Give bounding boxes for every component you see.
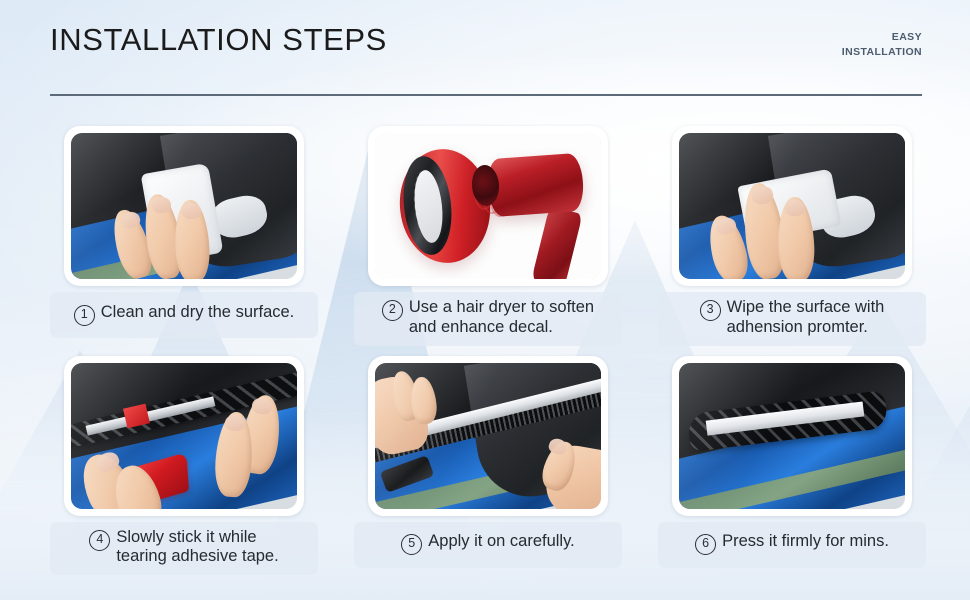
- header-divider: [50, 94, 922, 96]
- step-4-image-card: [64, 356, 304, 516]
- step-4-photo: [71, 363, 297, 509]
- easy-installation-badge: EASY INSTALLATION: [842, 30, 922, 60]
- step-6-photo: [679, 363, 905, 509]
- step-5-caption-text: Apply it on carefully.: [428, 532, 574, 552]
- hair-dryer-body: [486, 153, 585, 218]
- step-3-caption-text: Wipe the surface with adhension promter.: [727, 298, 885, 338]
- step-4-number: 4: [89, 530, 110, 551]
- step-item-3: 3 Wipe the surface with adhension promte…: [658, 126, 926, 346]
- step-5-photo: [375, 363, 601, 509]
- fingernail-right-2: [224, 414, 245, 431]
- step-4-caption-panel: 4 Slowly stick it while tearing adhesive…: [50, 522, 318, 576]
- step-5-image-card: [368, 356, 608, 516]
- step-item-4: 4 Slowly stick it while tearing adhesive…: [50, 356, 318, 576]
- step-4-caption-text: Slowly stick it while tearing adhesive t…: [116, 528, 278, 568]
- step-2-image-card: [368, 126, 608, 286]
- step-2-caption-panel: 2 Use a hair dryer to soften and enhance…: [354, 292, 622, 346]
- step-6-number: 6: [695, 534, 716, 555]
- step-6-image-card: [672, 356, 912, 516]
- step-2-number: 2: [382, 300, 403, 321]
- step-item-5: 5 Apply it on carefully.: [354, 356, 622, 576]
- step-item-1: 1 Clean and dry the surface.: [50, 126, 318, 346]
- infographic-page: INSTALLATION STEPS EASY INSTALLATION: [0, 0, 970, 600]
- page-header: INSTALLATION STEPS EASY INSTALLATION: [0, 0, 970, 110]
- step-3-photo: [679, 133, 905, 279]
- step-3-image-card: [672, 126, 912, 286]
- step-6-caption-panel: 6 Press it firmly for mins.: [658, 522, 926, 568]
- step-3-caption-panel: 3 Wipe the surface with adhension promte…: [658, 292, 926, 346]
- step-1-number: 1: [74, 305, 95, 326]
- step-1-caption-panel: 1 Clean and dry the surface.: [50, 292, 318, 338]
- eyebrow-line-2: INSTALLATION: [842, 45, 922, 60]
- car-sill-scene: [679, 133, 905, 279]
- step-1-caption-text: Clean and dry the surface.: [101, 303, 295, 323]
- step-5-number: 5: [401, 534, 422, 555]
- step-2-photo: [375, 133, 601, 279]
- step-2-caption-text: Use a hair dryer to soften and enhance d…: [409, 298, 594, 338]
- hair-dryer-scene: [375, 133, 601, 279]
- step-1-image-card: [64, 126, 304, 286]
- step-6-caption-text: Press it firmly for mins.: [722, 532, 889, 552]
- fingernail-3: [181, 203, 201, 220]
- eyebrow-line-1: EASY: [842, 30, 922, 45]
- car-sill-scene: [375, 363, 601, 509]
- steps-grid: 1 Clean and dry the surface.: [50, 126, 922, 575]
- car-sill-scene: [71, 133, 297, 279]
- car-sill-scene: [679, 363, 905, 509]
- hair-dryer-handle: [531, 206, 582, 279]
- step-item-2: 2 Use a hair dryer to soften and enhance…: [354, 126, 622, 346]
- page-title: INSTALLATION STEPS: [50, 22, 387, 58]
- step-5-caption-panel: 5 Apply it on carefully.: [354, 522, 622, 568]
- step-item-6: 6 Press it firmly for mins.: [658, 356, 926, 576]
- car-sill-scene: [71, 363, 297, 509]
- step-3-number: 3: [700, 300, 721, 321]
- step-1-photo: [71, 133, 297, 279]
